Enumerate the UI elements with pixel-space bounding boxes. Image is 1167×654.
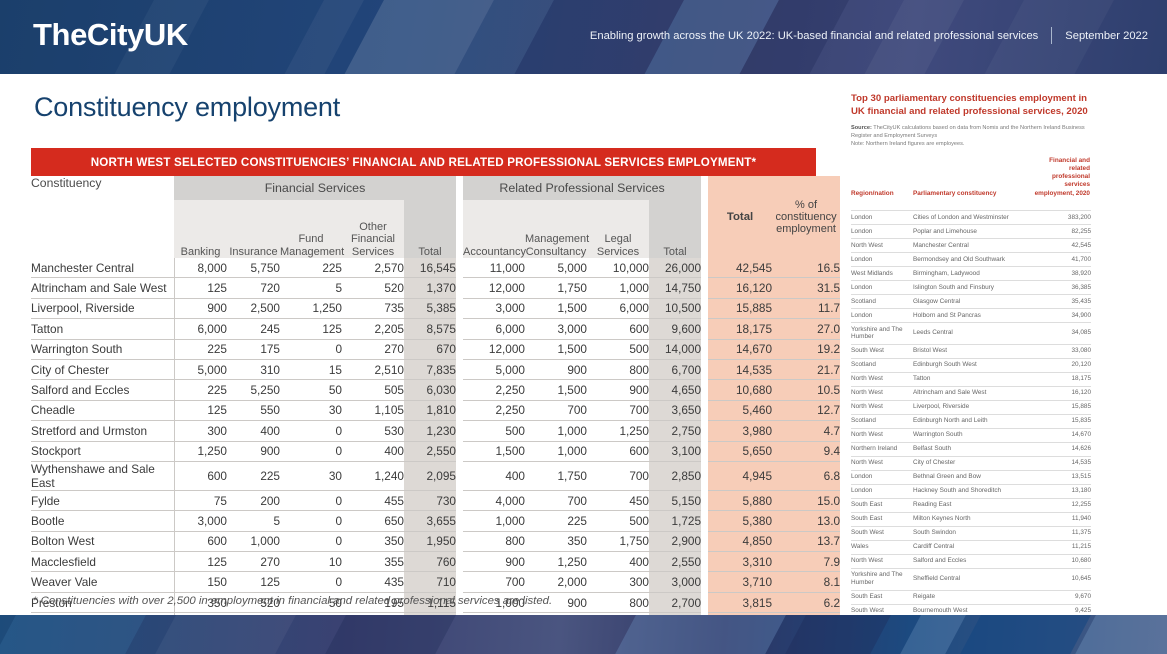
cell-grand-total: 14,670 xyxy=(708,339,772,359)
cell-region-nation: North West xyxy=(851,372,913,386)
cell-region-nation: Scotland xyxy=(851,294,913,308)
cell-insurance: 200 xyxy=(227,490,280,510)
cell-legal-services: 900 xyxy=(587,380,649,400)
cell-fs-total: 6,030 xyxy=(404,380,456,400)
th-management-consultancy: Management Consultancy xyxy=(525,200,587,258)
cell-legal-services: 10,000 xyxy=(587,258,649,278)
cell-insurance: 310 xyxy=(227,359,280,379)
cell-insurance: 2,500 xyxy=(227,298,280,318)
cell-grand-total: 5,380 xyxy=(708,511,772,531)
th-fund-management: Fund Management xyxy=(280,200,342,258)
cell-pct-employment: 31.5 xyxy=(772,278,840,298)
top30-panel: Top 30 parliamentary constituencies empl… xyxy=(851,93,1091,647)
cell-employment-value: 14,626 xyxy=(1031,442,1091,456)
cell-accountancy: 800 xyxy=(463,531,525,551)
cell-parliamentary-constituency: Manchester Central xyxy=(913,238,1031,252)
table-row: Stockport1,25090004002,5501,5001,0006003… xyxy=(31,441,840,461)
cell-fs-total: 760 xyxy=(404,552,456,572)
row-constituency-name: Stockport xyxy=(31,441,174,461)
cell-region-nation: Scotland xyxy=(851,358,913,372)
cell-region-nation: West Midlands xyxy=(851,266,913,280)
dotted-divider xyxy=(851,202,1091,211)
cell-gap-1 xyxy=(456,531,463,551)
cell-legal-services: 700 xyxy=(587,400,649,420)
cell-employment-value: 10,645 xyxy=(1031,568,1091,590)
row-constituency-name: Macclesfield xyxy=(31,552,174,572)
cell-fund-management: 15 xyxy=(280,359,342,379)
cell-banking: 150 xyxy=(174,572,227,592)
cell-management-consultancy: 1,000 xyxy=(525,441,587,461)
cell-other-financial-services: 350 xyxy=(342,531,404,551)
cell-other-financial-services: 1,240 xyxy=(342,461,404,490)
cell-gap-1 xyxy=(456,319,463,339)
cell-fund-management: 1,250 xyxy=(280,298,342,318)
cell-banking: 1,250 xyxy=(174,441,227,461)
cell-management-consultancy: 1,750 xyxy=(525,461,587,490)
cell-parliamentary-constituency: Cardiff Central xyxy=(913,540,1031,554)
cell-region-nation: Yorkshire and The Humber xyxy=(851,568,913,590)
table-row: Bolton West6001,00003501,9508003501,7502… xyxy=(31,531,840,551)
cell-legal-services: 800 xyxy=(587,359,649,379)
cell-management-consultancy: 1,250 xyxy=(525,552,587,572)
th-grand-total: Total xyxy=(708,176,772,258)
cell-fs-total: 3,655 xyxy=(404,511,456,531)
cell-gap-2 xyxy=(701,490,708,510)
cell-gap-2 xyxy=(701,421,708,441)
cell-fs-total: 730 xyxy=(404,490,456,510)
top30-table-body: LondonCities of London and Westminster38… xyxy=(851,210,1091,646)
cell-employment-value: 82,255 xyxy=(1031,224,1091,238)
cell-accountancy: 12,000 xyxy=(463,278,525,298)
cell-fs-total: 1,810 xyxy=(404,400,456,420)
cell-region-nation: London xyxy=(851,470,913,484)
cell-gap-2 xyxy=(701,461,708,490)
table-row: Cheadle125550301,1051,8102,2507007003,65… xyxy=(31,400,840,420)
cell-employment-value: 383,200 xyxy=(1031,210,1091,224)
cell-region-nation: London xyxy=(851,308,913,322)
cell-parliamentary-constituency: Edinburgh South West xyxy=(913,358,1031,372)
cell-rps-total: 5,150 xyxy=(649,490,701,510)
cell-fs-total: 2,550 xyxy=(404,441,456,461)
cell-insurance: 270 xyxy=(227,552,280,572)
table-row: Wythenshawe and Sale East600225301,2402,… xyxy=(31,461,840,490)
th-insurance: Insurance xyxy=(227,200,280,258)
cell-gap-2 xyxy=(701,531,708,551)
row-constituency-name: City of Chester xyxy=(31,359,174,379)
cell-employment-value: 13,515 xyxy=(1031,470,1091,484)
list-item: South EastReading East12,255 xyxy=(851,498,1091,512)
list-item: LondonCities of London and Westminster38… xyxy=(851,210,1091,224)
cell-gap-2 xyxy=(701,511,708,531)
table-row: Weaver Vale15012504357107002,0003003,000… xyxy=(31,572,840,592)
cell-management-consultancy: 700 xyxy=(525,400,587,420)
cell-fs-total: 2,095 xyxy=(404,461,456,490)
cell-employment-value: 41,700 xyxy=(1031,252,1091,266)
cell-grand-total: 16,120 xyxy=(708,278,772,298)
cell-grand-total: 3,980 xyxy=(708,421,772,441)
cell-insurance: 1,000 xyxy=(227,531,280,551)
cell-accountancy: 2,250 xyxy=(463,400,525,420)
cell-banking: 75 xyxy=(174,490,227,510)
th-group-related-professional-services: Related Professional Services xyxy=(463,176,701,200)
list-item: North WestManchester Central42,545 xyxy=(851,238,1091,252)
cell-fund-management: 0 xyxy=(280,511,342,531)
cell-banking: 6,000 xyxy=(174,319,227,339)
cell-gap-2 xyxy=(701,400,708,420)
cell-legal-services: 1,000 xyxy=(587,278,649,298)
list-item: Yorkshire and The HumberSheffield Centra… xyxy=(851,568,1091,590)
cell-other-financial-services: 1,105 xyxy=(342,400,404,420)
cell-rps-total: 2,550 xyxy=(649,552,701,572)
cell-region-nation: London xyxy=(851,210,913,224)
cell-fund-management: 10 xyxy=(280,552,342,572)
cell-gap-2 xyxy=(701,298,708,318)
cell-pct-employment: 9.4 xyxy=(772,441,840,461)
list-item: LondonIslington South and Finsbury36,385 xyxy=(851,280,1091,294)
cell-pct-employment: 10.5 xyxy=(772,380,840,400)
list-item: South WestSouth Swindon11,375 xyxy=(851,526,1091,540)
list-item: LondonBethnal Green and Bow13,515 xyxy=(851,470,1091,484)
top30-panel-title: Top 30 parliamentary constituencies empl… xyxy=(851,93,1091,119)
cell-accountancy: 5,000 xyxy=(463,359,525,379)
th-other-financial-services: Other Financial Services xyxy=(342,200,404,258)
cell-employment-value: 14,670 xyxy=(1031,428,1091,442)
cell-employment-value: 34,085 xyxy=(1031,322,1091,344)
page-title: Constituency employment xyxy=(34,92,340,123)
cell-management-consultancy: 900 xyxy=(525,359,587,379)
header-meta: Enabling growth across the UK 2022: UK-b… xyxy=(590,27,1148,44)
cell-region-nation: London xyxy=(851,484,913,498)
th-parliamentary-constituency: Parliamentary constituency xyxy=(913,157,1031,202)
cell-region-nation: North West xyxy=(851,428,913,442)
cell-region-nation: Wales xyxy=(851,540,913,554)
cell-fs-total: 7,835 xyxy=(404,359,456,379)
cell-management-consultancy: 1,500 xyxy=(525,339,587,359)
list-item: South EastMilton Keynes North11,940 xyxy=(851,512,1091,526)
cell-banking: 600 xyxy=(174,461,227,490)
cell-gap-1 xyxy=(456,552,463,572)
cell-grand-total: 3,710 xyxy=(708,572,772,592)
table-banner: NORTH WEST SELECTED CONSTITUENCIES’ FINA… xyxy=(31,148,816,176)
list-item: ScotlandGlasgow Central35,435 xyxy=(851,294,1091,308)
table-row: Manchester Central8,0005,7502252,57016,5… xyxy=(31,258,840,278)
row-constituency-name: Cheadle xyxy=(31,400,174,420)
cell-insurance: 5,250 xyxy=(227,380,280,400)
cell-grand-total: 3,310 xyxy=(708,552,772,572)
cell-other-financial-services: 735 xyxy=(342,298,404,318)
cell-region-nation: North West xyxy=(851,238,913,252)
cell-employment-value: 11,215 xyxy=(1031,540,1091,554)
cell-parliamentary-constituency: Salford and Eccles xyxy=(913,554,1031,568)
cell-grand-total: 3,815 xyxy=(708,592,772,612)
cell-insurance: 5,750 xyxy=(227,258,280,278)
cell-insurance: 900 xyxy=(227,441,280,461)
cell-region-nation: North West xyxy=(851,386,913,400)
list-item: South EastReigate9,670 xyxy=(851,590,1091,604)
cell-region-nation: South West xyxy=(851,344,913,358)
cell-management-consultancy: 350 xyxy=(525,531,587,551)
cell-rps-total: 2,700 xyxy=(649,592,701,612)
cell-parliamentary-constituency: Altrincham and Sale West xyxy=(913,386,1031,400)
cell-rps-total: 2,850 xyxy=(649,461,701,490)
cell-employment-value: 35,435 xyxy=(1031,294,1091,308)
cell-region-nation: London xyxy=(851,280,913,294)
table-row: Salford and Eccles2255,250505056,0302,25… xyxy=(31,380,840,400)
header-date: September 2022 xyxy=(1052,30,1148,42)
row-constituency-name: Bootle xyxy=(31,511,174,531)
cell-other-financial-services: 530 xyxy=(342,421,404,441)
cell-parliamentary-constituency: Warrington South xyxy=(913,428,1031,442)
column-gap-4 xyxy=(701,200,708,258)
cell-management-consultancy: 225 xyxy=(525,511,587,531)
cell-grand-total: 42,545 xyxy=(708,258,772,278)
cell-fs-total: 8,575 xyxy=(404,319,456,339)
cell-parliamentary-constituency: Holborn and St Pancras xyxy=(913,308,1031,322)
cell-pct-employment: 6.8 xyxy=(772,461,840,490)
cell-region-nation: North West xyxy=(851,400,913,414)
th-region-nation: Region/nation xyxy=(851,157,913,202)
th-rps-total: Total xyxy=(649,200,701,258)
cell-gap-2 xyxy=(701,278,708,298)
cell-parliamentary-constituency: Islington South and Finsbury xyxy=(913,280,1031,294)
cell-pct-employment: 4.7 xyxy=(772,421,840,441)
cell-legal-services: 600 xyxy=(587,319,649,339)
cell-gap-1 xyxy=(456,461,463,490)
cell-rps-total: 14,750 xyxy=(649,278,701,298)
list-item: LondonHackney South and Shoreditch13,180 xyxy=(851,484,1091,498)
cell-other-financial-services: 650 xyxy=(342,511,404,531)
cell-management-consultancy: 2,000 xyxy=(525,572,587,592)
cell-banking: 125 xyxy=(174,552,227,572)
table-row: City of Chester5,000310152,5107,8355,000… xyxy=(31,359,840,379)
page-header: TheCityUK Enabling growth across the UK … xyxy=(0,0,1167,74)
list-item: South WestBristol West33,080 xyxy=(851,344,1091,358)
cell-pct-employment: 13.0 xyxy=(772,511,840,531)
cell-employment-value: 18,175 xyxy=(1031,372,1091,386)
cell-other-financial-services: 270 xyxy=(342,339,404,359)
cell-parliamentary-constituency: South Swindon xyxy=(913,526,1031,540)
cell-fund-management: 30 xyxy=(280,400,342,420)
row-constituency-name: Weaver Vale xyxy=(31,572,174,592)
cell-gap-1 xyxy=(456,441,463,461)
cell-employment-value: 9,670 xyxy=(1031,590,1091,604)
cell-management-consultancy: 1,500 xyxy=(525,298,587,318)
cell-accountancy: 3,000 xyxy=(463,298,525,318)
list-item: West MidlandsBirmingham, Ladywood38,920 xyxy=(851,266,1091,280)
cell-legal-services: 6,000 xyxy=(587,298,649,318)
cell-legal-services: 700 xyxy=(587,461,649,490)
list-item: ScotlandEdinburgh North and Leith15,835 xyxy=(851,414,1091,428)
cell-insurance: 400 xyxy=(227,421,280,441)
cell-employment-value: 10,680 xyxy=(1031,554,1091,568)
cell-fund-management: 0 xyxy=(280,441,342,461)
cell-gap-2 xyxy=(701,359,708,379)
cell-gap-1 xyxy=(456,278,463,298)
cell-gap-2 xyxy=(701,258,708,278)
cell-legal-services: 500 xyxy=(587,511,649,531)
cell-insurance: 175 xyxy=(227,339,280,359)
cell-accountancy: 1,000 xyxy=(463,511,525,531)
cell-fs-total: 1,370 xyxy=(404,278,456,298)
cell-rps-total: 1,725 xyxy=(649,511,701,531)
cell-banking: 5,000 xyxy=(174,359,227,379)
cell-gap-1 xyxy=(456,339,463,359)
cell-region-nation: Scotland xyxy=(851,414,913,428)
cell-parliamentary-constituency: Tatton xyxy=(913,372,1031,386)
row-constituency-name: Altrincham and Sale West xyxy=(31,278,174,298)
constituency-employment-table: Constituency Financial Services Related … xyxy=(31,176,840,654)
source-text: TheCityUK calculations based on data fro… xyxy=(851,125,1085,139)
cell-parliamentary-constituency: Liverpool, Riverside xyxy=(913,400,1031,414)
cell-accountancy: 400 xyxy=(463,461,525,490)
th-group-financial-services: Financial Services xyxy=(174,176,456,200)
cell-grand-total: 18,175 xyxy=(708,319,772,339)
cell-fs-total: 670 xyxy=(404,339,456,359)
cell-accountancy: 11,000 xyxy=(463,258,525,278)
cell-other-financial-services: 505 xyxy=(342,380,404,400)
cell-fs-total: 1,230 xyxy=(404,421,456,441)
cell-rps-total: 2,750 xyxy=(649,421,701,441)
cell-employment-value: 42,545 xyxy=(1031,238,1091,252)
list-item: ScotlandEdinburgh South West20,120 xyxy=(851,358,1091,372)
cell-fund-management: 0 xyxy=(280,490,342,510)
cell-region-nation: South East xyxy=(851,512,913,526)
th-pct-constituency-employment: % of constituency employment xyxy=(772,176,840,258)
cell-accountancy: 2,250 xyxy=(463,380,525,400)
column-gap-1 xyxy=(456,176,463,200)
th-accountancy: Accountancy xyxy=(463,200,525,258)
cell-pct-employment: 21.7 xyxy=(772,359,840,379)
cell-parliamentary-constituency: Milton Keynes North xyxy=(913,512,1031,526)
th-fs-total: Total xyxy=(404,200,456,258)
cell-accountancy: 900 xyxy=(463,552,525,572)
cell-banking: 900 xyxy=(174,298,227,318)
cell-gap-2 xyxy=(701,441,708,461)
cell-gap-2 xyxy=(701,572,708,592)
cell-insurance: 720 xyxy=(227,278,280,298)
cell-parliamentary-constituency: Leeds Central xyxy=(913,322,1031,344)
thecityuk-logo: TheCityUK xyxy=(33,17,188,53)
th-legal-services: Legal Services xyxy=(587,200,649,258)
row-constituency-name: Bolton West xyxy=(31,531,174,551)
cell-parliamentary-constituency: Sheffield Central xyxy=(913,568,1031,590)
cell-gap-1 xyxy=(456,490,463,510)
list-item: Yorkshire and The HumberLeeds Central34,… xyxy=(851,322,1091,344)
cell-pct-employment: 12.7 xyxy=(772,400,840,420)
cell-gap-1 xyxy=(456,400,463,420)
list-item: North WestCity of Chester14,535 xyxy=(851,456,1091,470)
cell-parliamentary-constituency: Reigate xyxy=(913,590,1031,604)
row-constituency-name: Manchester Central xyxy=(31,258,174,278)
cell-region-nation: North West xyxy=(851,554,913,568)
cell-legal-services: 600 xyxy=(587,441,649,461)
cell-gap-2 xyxy=(701,319,708,339)
cell-banking: 225 xyxy=(174,339,227,359)
cell-other-financial-services: 2,205 xyxy=(342,319,404,339)
cell-region-nation: South East xyxy=(851,498,913,512)
cell-insurance: 125 xyxy=(227,572,280,592)
table-row: Liverpool, Riverside9002,5001,2507355,38… xyxy=(31,298,840,318)
row-constituency-name: Fylde xyxy=(31,490,174,510)
cell-banking: 600 xyxy=(174,531,227,551)
cell-banking: 125 xyxy=(174,400,227,420)
cell-pct-employment: 8.1 xyxy=(772,572,840,592)
cell-parliamentary-constituency: Reading East xyxy=(913,498,1031,512)
cell-insurance: 550 xyxy=(227,400,280,420)
cell-legal-services: 800 xyxy=(587,592,649,612)
cell-rps-total: 26,000 xyxy=(649,258,701,278)
cell-pct-employment: 15.0 xyxy=(772,490,840,510)
list-item: North WestAltrincham and Sale West16,120 xyxy=(851,386,1091,400)
cell-employment-value: 34,900 xyxy=(1031,308,1091,322)
cell-region-nation: London xyxy=(851,252,913,266)
cell-management-consultancy: 3,000 xyxy=(525,319,587,339)
cell-fund-management: 0 xyxy=(280,531,342,551)
cell-region-nation: North West xyxy=(851,456,913,470)
cell-employment-value: 11,940 xyxy=(1031,512,1091,526)
cell-rps-total: 10,500 xyxy=(649,298,701,318)
cell-employment-value: 20,120 xyxy=(1031,358,1091,372)
cell-rps-total: 9,600 xyxy=(649,319,701,339)
th-employment-2020: Financial and related professional servi… xyxy=(1031,157,1091,202)
cell-pct-employment: 11.7 xyxy=(772,298,840,318)
cell-rps-total: 2,900 xyxy=(649,531,701,551)
cell-legal-services: 1,750 xyxy=(587,531,649,551)
cell-accountancy: 500 xyxy=(463,421,525,441)
th-constituency: Constituency xyxy=(31,176,174,258)
cell-employment-value: 36,385 xyxy=(1031,280,1091,294)
cell-employment-value: 33,080 xyxy=(1031,344,1091,358)
cell-parliamentary-constituency: Cities of London and Westminster xyxy=(913,210,1031,224)
cell-parliamentary-constituency: Bermondsey and Old Southwark xyxy=(913,252,1031,266)
note-text: Note: Northern Ireland figures are emplo… xyxy=(851,141,965,147)
cell-other-financial-services: 455 xyxy=(342,490,404,510)
list-item: North WestSalford and Eccles10,680 xyxy=(851,554,1091,568)
list-item: LondonHolborn and St Pancras34,900 xyxy=(851,308,1091,322)
cell-accountancy: 1,500 xyxy=(463,441,525,461)
cell-parliamentary-constituency: City of Chester xyxy=(913,456,1031,470)
cell-region-nation: South West xyxy=(851,526,913,540)
cell-banking: 8,000 xyxy=(174,258,227,278)
cell-fund-management: 0 xyxy=(280,572,342,592)
cell-management-consultancy: 1,500 xyxy=(525,380,587,400)
cell-rps-total: 3,000 xyxy=(649,572,701,592)
cell-parliamentary-constituency: Poplar and Limehouse xyxy=(913,224,1031,238)
table-row: Warrington South225175027067012,0001,500… xyxy=(31,339,840,359)
cell-accountancy: 12,000 xyxy=(463,339,525,359)
row-constituency-name: Salford and Eccles xyxy=(31,380,174,400)
cell-employment-value: 15,835 xyxy=(1031,414,1091,428)
list-item: Northern IrelandBelfast South14,626 xyxy=(851,442,1091,456)
page-footer xyxy=(0,615,1167,654)
cell-accountancy: 4,000 xyxy=(463,490,525,510)
cell-fund-management: 5 xyxy=(280,278,342,298)
cell-employment-value: 14,535 xyxy=(1031,456,1091,470)
cell-pct-employment: 13.7 xyxy=(772,531,840,551)
cell-other-financial-services: 435 xyxy=(342,572,404,592)
cell-grand-total: 5,880 xyxy=(708,490,772,510)
cell-banking: 125 xyxy=(174,278,227,298)
cell-gap-2 xyxy=(701,339,708,359)
cell-management-consultancy: 700 xyxy=(525,490,587,510)
cell-legal-services: 450 xyxy=(587,490,649,510)
cell-fs-total: 1,950 xyxy=(404,531,456,551)
cell-grand-total: 5,460 xyxy=(708,400,772,420)
cell-parliamentary-constituency: Hackney South and Shoreditch xyxy=(913,484,1031,498)
cell-management-consultancy: 5,000 xyxy=(525,258,587,278)
cell-fs-total: 16,545 xyxy=(404,258,456,278)
th-banking: Banking xyxy=(174,200,227,258)
